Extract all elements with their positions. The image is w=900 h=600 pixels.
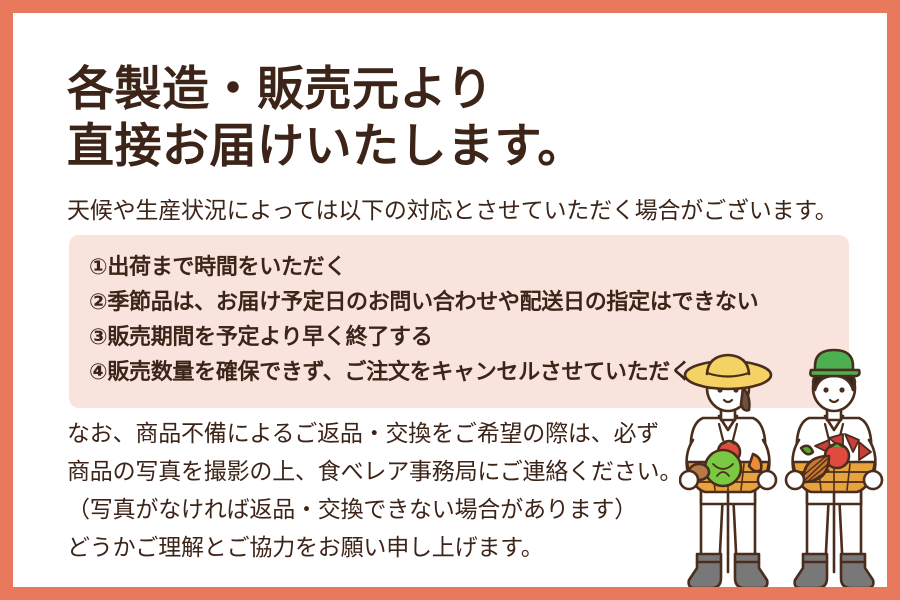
subtitle-text: 天候や生産状況によっては以下の対応とさせていただく場合がございます。: [67, 195, 857, 225]
farmer-right-figure: [786, 350, 882, 587]
farmer-left-figure: [680, 355, 776, 587]
list-item: ②季節品は、お届け予定日のお問い合わせや配送日の指定はできない: [89, 284, 849, 319]
list-item: ①出荷まで時間をいただく: [89, 249, 849, 284]
poster-frame: 各製造・販売元より 直接お届けいたします。 天候や生産状況によっては以下の対応と…: [0, 0, 900, 600]
farmers-illustration: [679, 340, 887, 587]
closing-paragraph: なお、商品不備によるご返品・交換をご希望の際は、必ず 商品の写真を撮影の上、食べ…: [67, 414, 707, 566]
poster-inner: 各製造・販売元より 直接お届けいたします。 天候や生産状況によっては以下の対応と…: [13, 13, 887, 587]
page-title: 各製造・販売元より 直接お届けいたします。: [67, 60, 827, 174]
